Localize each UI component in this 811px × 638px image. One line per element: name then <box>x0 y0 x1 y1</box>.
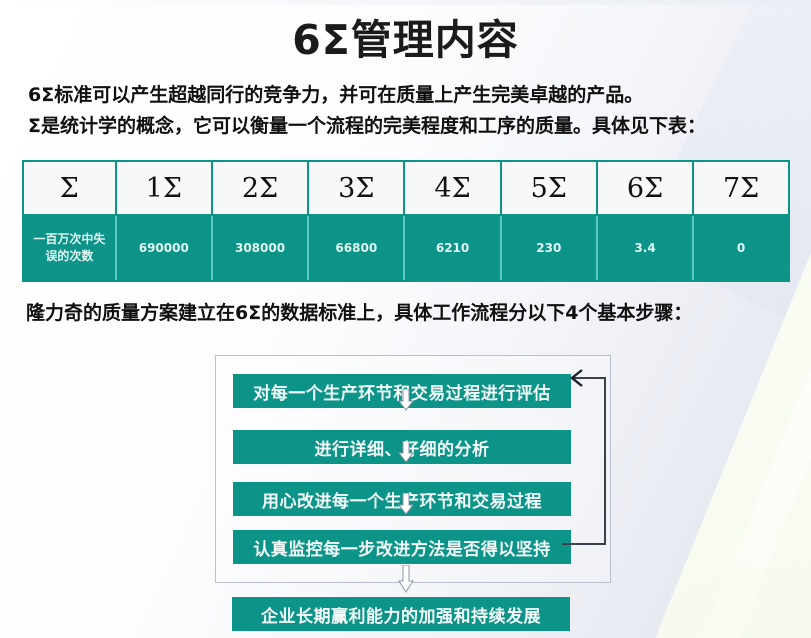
table-cell-value-0: 690000 <box>116 215 212 280</box>
table-col-header-0: Σ <box>24 162 116 215</box>
flow-step-4: 认真监控每一步改进方法是否得以坚持 <box>233 530 571 564</box>
page-title: 6Σ管理内容 <box>0 6 811 66</box>
table-col-header-6: 6Σ <box>597 162 693 215</box>
table-cell-value-5: 3.4 <box>597 215 693 280</box>
table-col-header-7: 7Σ <box>693 162 788 215</box>
background-swoosh-large-icon <box>629 221 811 638</box>
table-cell-value-3: 6210 <box>404 215 500 280</box>
table-cell-value-4: 230 <box>501 215 597 280</box>
slide-canvas: 6Σ管理内容 6Σ标准可以产生超越同行的竞争力，并可在质量上产生完美卓越的产品。… <box>0 0 811 638</box>
table-col-header-2: 2Σ <box>212 162 308 215</box>
arrow-down-step3-to-step4-icon <box>398 493 414 515</box>
flow-outcome-box: 企业长期赢利能力的加强和持续发展 <box>232 597 570 631</box>
table-row: 一百万次中失误的次数 690000 308000 66800 6210 230 … <box>24 215 788 280</box>
table-cell-value-2: 66800 <box>308 215 404 280</box>
intro-line-1: 6Σ标准可以产生超越同行的竞争力，并可在质量上产生完美卓越的产品。 <box>28 80 788 111</box>
arrow-down-to-outcome-icon <box>398 565 414 593</box>
intro-paragraph: 6Σ标准可以产生超越同行的竞争力，并可在质量上产生完美卓越的产品。 Σ是统计学的… <box>28 80 788 142</box>
table-header-row: Σ 1Σ 2Σ 3Σ 4Σ 5Σ 6Σ 7Σ <box>24 162 788 215</box>
table-col-header-3: 3Σ <box>308 162 404 215</box>
table-cell-value-6: 0 <box>693 215 788 280</box>
sigma-defect-table: Σ 1Σ 2Σ 3Σ 4Σ 5Σ 6Σ 7Σ 一百万次中失误的次数 690000… <box>22 160 790 282</box>
table-col-header-4: 4Σ <box>404 162 500 215</box>
feedback-loop-arrow-icon <box>560 366 620 552</box>
arrow-down-step2-to-step3-icon <box>398 441 414 463</box>
table-col-header-5: 5Σ <box>501 162 597 215</box>
table-cell-value-1: 308000 <box>212 215 308 280</box>
table-col-header-1: 1Σ <box>116 162 212 215</box>
process-intro-text: 隆力奇的质量方案建立在6Σ的数据标准上，具体工作流程分以下4个基本步骤： <box>26 298 692 325</box>
arrow-down-step1-to-step2-icon <box>398 389 414 411</box>
top-accent-bar <box>0 0 811 5</box>
intro-line-2: Σ是统计学的概念，它可以衡量一个流程的完美程度和工序的质量。具体见下表： <box>28 111 788 142</box>
table-row-label: 一百万次中失误的次数 <box>24 215 116 280</box>
